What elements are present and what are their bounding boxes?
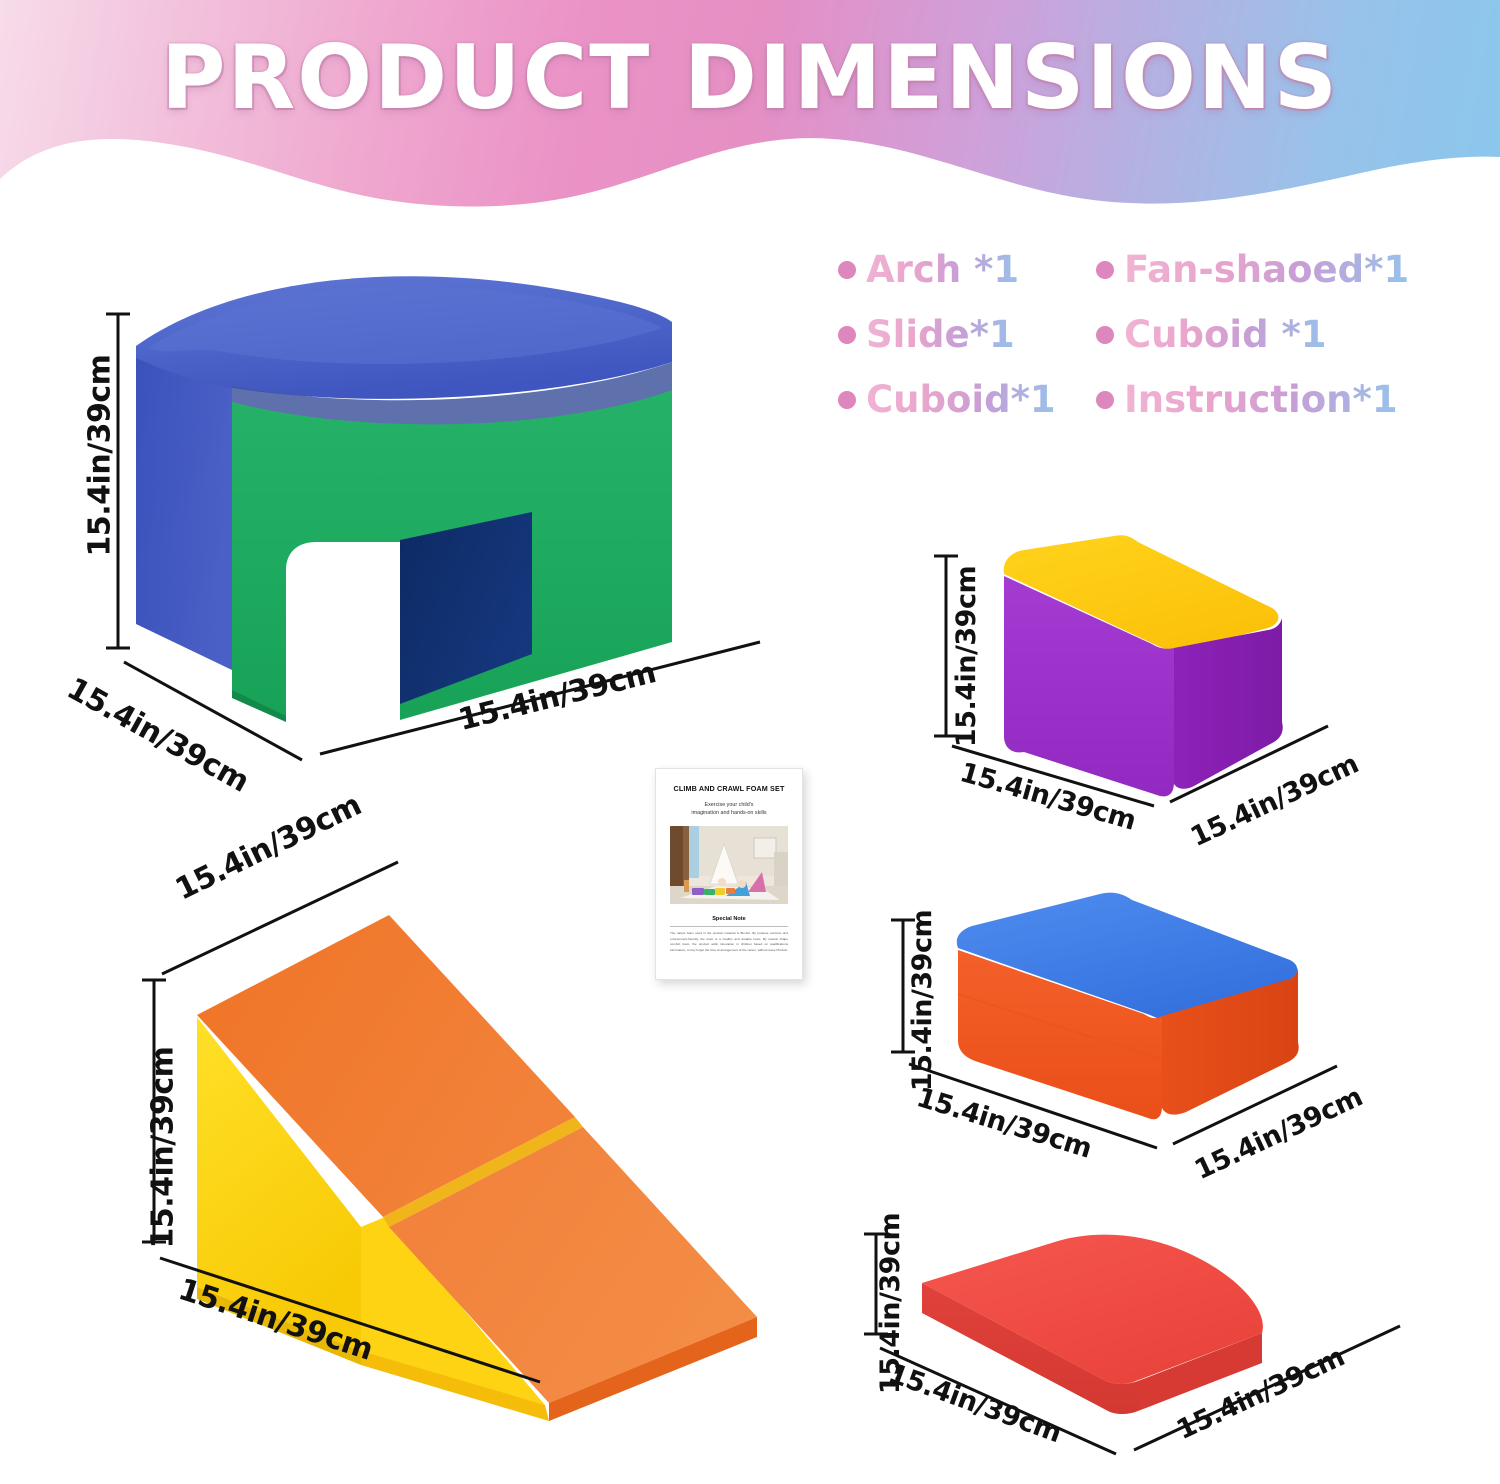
instruction-note-body: The nature foam used in the product mate… bbox=[668, 931, 790, 954]
fan-shaped-dimension-guides bbox=[852, 1218, 1472, 1484]
instruction-subtitle: Exercise your child'simagination and han… bbox=[668, 801, 790, 817]
legend-label: Slide*1 bbox=[866, 313, 1015, 356]
legend-label: Fan-shaoed*1 bbox=[1124, 248, 1409, 291]
legend-item-slide: Slide*1 bbox=[838, 313, 1096, 356]
bullet-icon bbox=[1096, 261, 1114, 279]
slide-height-label: 15.4in/39cm bbox=[145, 1047, 180, 1249]
bullet-icon bbox=[838, 261, 856, 279]
page-title: PRODUCT DIMENSIONS bbox=[0, 26, 1500, 129]
legend-item-instruction: Instruction*1 bbox=[1096, 378, 1458, 421]
legend-label: Cuboid*1 bbox=[866, 378, 1056, 421]
legend-item-fan-shaped: Fan-shaoed*1 bbox=[1096, 248, 1458, 291]
instruction-title: CLIMB AND CRAWL FOAM SET bbox=[668, 785, 790, 794]
cuboid-purple-height-label: 15.4in/39cm bbox=[951, 566, 982, 747]
bullet-icon bbox=[838, 326, 856, 344]
instruction-photo bbox=[670, 826, 788, 904]
legend-item-cuboid-left: Cuboid*1 bbox=[838, 378, 1096, 421]
bullet-icon bbox=[1096, 391, 1114, 409]
legend-label: Instruction*1 bbox=[1124, 378, 1398, 421]
bullet-icon bbox=[838, 391, 856, 409]
legend-label: Cuboid *1 bbox=[1124, 313, 1327, 356]
legend-item-cuboid-right: Cuboid *1 bbox=[1096, 313, 1458, 356]
header-banner: PRODUCT DIMENSIONS bbox=[0, 0, 1500, 215]
legend-label: Arch *1 bbox=[866, 248, 1019, 291]
bullet-icon bbox=[1096, 326, 1114, 344]
instruction-sheet: CLIMB AND CRAWL FOAM SET Exercise your c… bbox=[655, 768, 803, 980]
legend-list: Arch *1 Fan-shaoed*1 Slide*1 Cuboid *1 C… bbox=[838, 248, 1458, 421]
arch-height-label: 15.4in/39cm bbox=[82, 355, 117, 557]
instruction-note-title: Special Note bbox=[668, 916, 790, 922]
cuboid-orange-height-label: 15.4in/39cm bbox=[907, 910, 938, 1091]
instruction-divider bbox=[670, 926, 788, 927]
legend-item-arch: Arch *1 bbox=[838, 248, 1096, 291]
arch-dimension-guides bbox=[70, 300, 770, 770]
